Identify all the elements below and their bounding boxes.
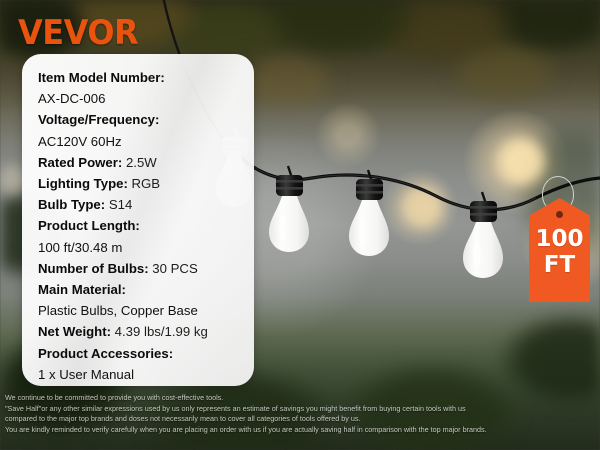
tag-label: 100 FT	[529, 226, 590, 278]
spec-key: Voltage/Frequency:	[38, 112, 159, 127]
disclaimer-line-4: You are kindly reminded to verify carefu…	[5, 425, 597, 436]
spec-row-voltage-frequency: Voltage/Frequency:	[38, 109, 246, 130]
disclaimer-text: We continue to be committed to provide y…	[5, 393, 597, 435]
spec-value: RGB	[128, 176, 160, 191]
spec-key: Rated Power:	[38, 155, 122, 170]
tag-label-line1: 100	[529, 226, 590, 252]
spec-key: Main Material:	[38, 282, 126, 297]
product-image: VEVOR Item Model Number: AX-DC-006 Volta…	[0, 0, 600, 450]
spec-value-product-accessories: 1 x User Manual	[38, 364, 246, 385]
spec-key: Number of Bulbs:	[38, 261, 149, 276]
tag-label-line2: FT	[529, 252, 590, 278]
spec-row-lighting-type: Lighting Type: RGB	[38, 173, 246, 194]
specification-card: Item Model Number: AX-DC-006 Voltage/Fre…	[22, 54, 254, 386]
spec-value-product-length: 100 ft/30.48 m	[38, 237, 246, 258]
spec-value-item-model-number: AX-DC-006	[38, 88, 246, 109]
spec-value: 2.5W	[122, 155, 156, 170]
spec-row-net-weight: Net Weight: 4.39 lbs/1.99 kg	[38, 321, 246, 342]
spec-key: Product Accessories:	[38, 346, 173, 361]
spec-key: Item Model Number:	[38, 70, 165, 85]
spec-value: 30 PCS	[149, 261, 198, 276]
disclaimer-line-3: compared to the major top brands and dos…	[5, 414, 597, 425]
spec-row-item-model-number: Item Model Number:	[38, 67, 246, 88]
spec-row-rated-power: Rated Power: 2.5W	[38, 152, 246, 173]
spec-key: Lighting Type:	[38, 176, 128, 191]
specification-list: Item Model Number: AX-DC-006 Voltage/Fre…	[38, 67, 246, 385]
spec-row-main-material: Main Material:	[38, 279, 246, 300]
length-tag: 100 FT	[529, 176, 593, 308]
spec-value-main-material: Plastic Bulbs, Copper Base	[38, 300, 246, 321]
spec-value: S14	[105, 197, 132, 212]
tag-hole	[556, 211, 563, 218]
spec-row-bulb-type: Bulb Type: S14	[38, 194, 246, 215]
disclaimer-line-1: We continue to be committed to provide y…	[5, 393, 597, 404]
spec-row-product-accessories: Product Accessories:	[38, 343, 246, 364]
spec-key: Bulb Type:	[38, 197, 105, 212]
spec-value: 4.39 lbs/1.99 kg	[111, 324, 208, 339]
bulb-3	[349, 170, 389, 256]
spec-row-product-length: Product Length:	[38, 215, 246, 236]
spec-value-voltage-frequency: AC120V 60Hz	[38, 131, 246, 152]
spec-row-number-of-bulbs: Number of Bulbs: 30 PCS	[38, 258, 246, 279]
vevor-logo: VEVOR	[18, 16, 138, 50]
disclaimer-line-2: "Save Half"or any other similar expressi…	[5, 404, 597, 415]
bulb-4	[463, 192, 503, 278]
spec-key: Product Length:	[38, 218, 140, 233]
spec-key: Net Weight:	[38, 324, 111, 339]
